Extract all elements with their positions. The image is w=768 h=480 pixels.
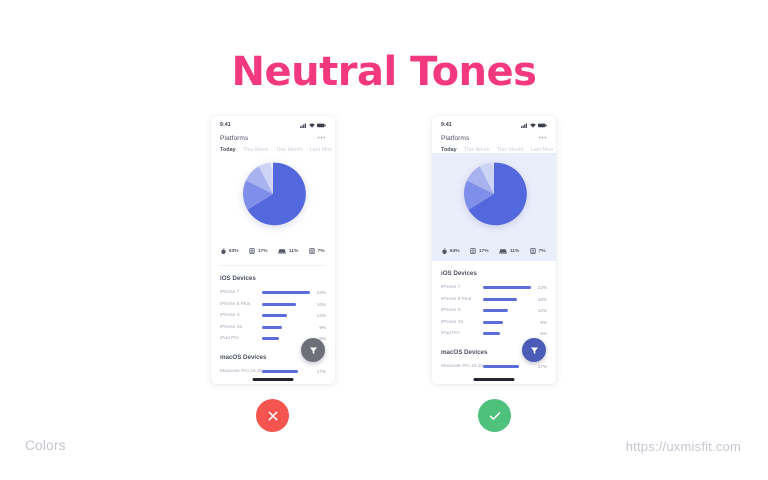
footer-category-label: Colors — [25, 438, 66, 453]
bar-track — [262, 314, 314, 317]
list-item[interactable]: Macbook Pro 15 2018 17% — [220, 366, 326, 378]
device-value: 12% — [535, 308, 547, 313]
bar-track — [483, 286, 535, 289]
signal-icon — [300, 123, 307, 128]
list-item[interactable]: iPhone 7 23% — [220, 287, 326, 299]
bar-track — [483, 365, 535, 368]
bar-fill — [483, 309, 508, 312]
list-item[interactable]: iPhone Xs 9% — [441, 317, 547, 329]
device-name: iPhone Xs — [220, 325, 262, 330]
bar-track — [483, 309, 535, 312]
phone-mockup-bad: 9:41 Platforms ••• Today This Week This … — [211, 116, 335, 384]
device-name: iPhone 8 Plus — [220, 302, 262, 307]
list-item[interactable]: iPhone X 12% — [220, 310, 326, 322]
device-value: 8% — [535, 331, 547, 336]
legend-item: 17% — [470, 248, 488, 254]
bar-track — [262, 291, 314, 294]
legend-value: 7% — [318, 249, 325, 254]
apple-icon — [442, 248, 447, 254]
check-icon — [487, 408, 503, 424]
legend-item: 17% — [249, 248, 267, 254]
home-indicator — [474, 378, 515, 380]
legend-value: 17% — [479, 249, 489, 254]
chart-legend: 63% 17% 11% — [211, 248, 335, 254]
device-name: iPhone X — [441, 308, 483, 313]
bar-fill — [483, 365, 519, 368]
device-name: iPad Pro — [441, 331, 483, 336]
legend-item: 7% — [309, 248, 325, 254]
legend-item: 63% — [442, 248, 459, 254]
device-value: 23% — [314, 290, 326, 295]
list-item[interactable]: iPhone 8 Plus 16% — [220, 299, 326, 311]
card-title: Platforms — [220, 135, 248, 142]
filter-icon — [530, 346, 539, 355]
legend-item: 11% — [278, 248, 298, 254]
device-name: Macbook Pro 15 2018 — [441, 364, 483, 369]
device-value: 9% — [314, 325, 326, 330]
phone-mockup-good: 9:41 Platforms ••• Today This Week This … — [432, 116, 556, 384]
more-options-icon[interactable]: ••• — [538, 137, 547, 141]
status-time: 9:41 — [220, 122, 231, 128]
bar-fill — [262, 303, 296, 306]
device-name: iPhone 7 — [220, 290, 262, 295]
list-item[interactable]: Macbook Pro 15 2018 17% — [441, 361, 547, 373]
tab-bar: Today This Week This Month Last Mon — [211, 142, 335, 153]
laptop-icon — [499, 248, 507, 254]
card-title: Platforms — [441, 135, 469, 142]
bar-track — [483, 332, 535, 335]
wifi-icon — [530, 123, 536, 128]
battery-icon — [317, 123, 326, 128]
footer-website-link[interactable]: https://uxmisfit.com — [626, 439, 741, 454]
bar-fill — [262, 370, 298, 373]
bar-fill — [483, 321, 503, 324]
device-name: iPad Pro — [220, 336, 262, 341]
pie-chart — [460, 160, 528, 228]
list-item[interactable]: iPhone X 12% — [441, 305, 547, 317]
monitor-icon — [530, 248, 536, 254]
legend-value: 63% — [229, 249, 239, 254]
device-value: 16% — [535, 297, 547, 302]
status-icons — [300, 123, 326, 128]
signal-icon — [521, 123, 528, 128]
bar-track — [483, 321, 535, 324]
list-item[interactable]: iPhone 7 23% — [441, 282, 547, 294]
legend-value: 63% — [450, 249, 460, 254]
monitor-icon — [309, 248, 315, 254]
legend-item: 7% — [530, 248, 546, 254]
legend-value: 11% — [510, 249, 520, 254]
bar-track — [262, 370, 314, 373]
battery-icon — [538, 123, 547, 128]
legend-value: 11% — [289, 249, 299, 254]
legend-item: 11% — [499, 248, 519, 254]
bar-track — [483, 298, 535, 301]
device-value: 12% — [314, 313, 326, 318]
device-value: 16% — [314, 302, 326, 307]
pie-chart-wrap — [432, 160, 556, 228]
wifi-icon — [309, 123, 315, 128]
bar-fill — [262, 314, 287, 317]
bar-track — [262, 303, 314, 306]
more-options-icon[interactable]: ••• — [317, 137, 326, 141]
device-name: iPhone Xs — [441, 320, 483, 325]
card-header: Platforms ••• — [211, 131, 335, 142]
pie-chart — [239, 160, 307, 228]
tablet-icon — [470, 248, 476, 254]
tablet-icon — [249, 248, 255, 254]
legend-item: 63% — [221, 248, 238, 254]
filter-fab-button[interactable] — [301, 338, 325, 362]
device-value: 17% — [314, 369, 326, 374]
tab-bar: Today This Week This Month Last Mon — [432, 142, 556, 153]
ios-devices-section: iOS Devices iPhone 7 23% iPhone 8 Plus 1… — [432, 261, 556, 340]
card-header: Platforms ••• — [432, 131, 556, 142]
ios-devices-section: iOS Devices iPhone 7 23% iPhone 8 Plus 1… — [211, 266, 335, 345]
bar-fill — [262, 291, 310, 294]
bar-fill — [483, 332, 500, 335]
status-icons — [521, 123, 547, 128]
legend-value: 7% — [539, 249, 546, 254]
list-item[interactable]: iPhone 8 Plus 16% — [441, 294, 547, 306]
pie-chart-wrap — [211, 160, 335, 228]
device-name: iPhone 8 Plus — [441, 297, 483, 302]
device-value: 17% — [535, 364, 547, 369]
page-title: Neutral Tones — [0, 49, 768, 95]
verdict-reject-button[interactable] — [256, 399, 289, 432]
device-name: iPhone 7 — [441, 285, 483, 290]
apple-icon — [221, 248, 226, 254]
status-bar: 9:41 — [211, 116, 335, 131]
bar-fill — [483, 298, 517, 301]
status-time: 9:41 — [441, 122, 452, 128]
bar-track — [262, 326, 314, 329]
bar-fill — [262, 337, 279, 340]
bar-fill — [483, 286, 531, 289]
home-indicator — [253, 378, 294, 380]
device-name: Macbook Pro 15 2018 — [220, 369, 262, 374]
filter-fab-button[interactable] — [522, 338, 546, 362]
chart-region: 63% 17% 11% — [432, 153, 556, 261]
section-heading: iOS Devices — [441, 261, 547, 282]
verdict-approve-button[interactable] — [478, 399, 511, 432]
legend-value: 17% — [258, 249, 268, 254]
filter-icon — [309, 346, 318, 355]
status-bar: 9:41 — [432, 116, 556, 131]
bar-fill — [262, 326, 282, 329]
device-value: 9% — [535, 320, 547, 325]
chart-region: 63% 17% 11% — [211, 153, 335, 261]
laptop-icon — [278, 248, 286, 254]
close-icon — [266, 409, 280, 423]
device-name: iPhone X — [220, 313, 262, 318]
list-item[interactable]: iPhone Xs 9% — [220, 322, 326, 334]
device-value: 23% — [535, 285, 547, 290]
section-heading: iOS Devices — [220, 266, 326, 287]
chart-legend: 63% 17% 11% — [432, 248, 556, 254]
